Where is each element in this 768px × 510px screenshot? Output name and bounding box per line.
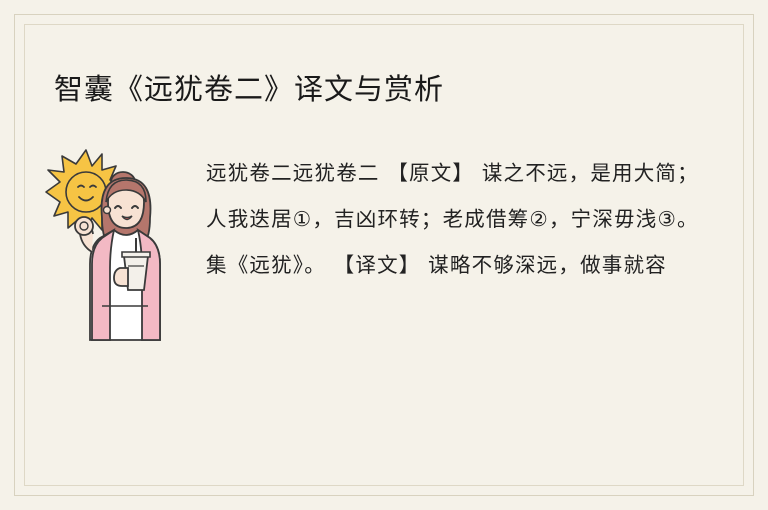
girl-with-drink-and-sun-icon (40, 140, 200, 370)
illustration (40, 140, 200, 370)
document-page: 智囊《远犹卷二》译文与赏析 (0, 0, 768, 510)
article-body: 远犹卷二远犹卷二 【原文】 谋之不远，是用大简；人我迭居①，吉凶环转；老成借筹②… (200, 140, 728, 288)
body-area: 远犹卷二远犹卷二 【原文】 谋之不远，是用大简；人我迭居①，吉凶环转；老成借筹②… (40, 140, 728, 470)
page-title: 智囊《远犹卷二》译文与赏析 (40, 40, 728, 108)
page-content: 智囊《远犹卷二》译文与赏析 (40, 40, 728, 470)
